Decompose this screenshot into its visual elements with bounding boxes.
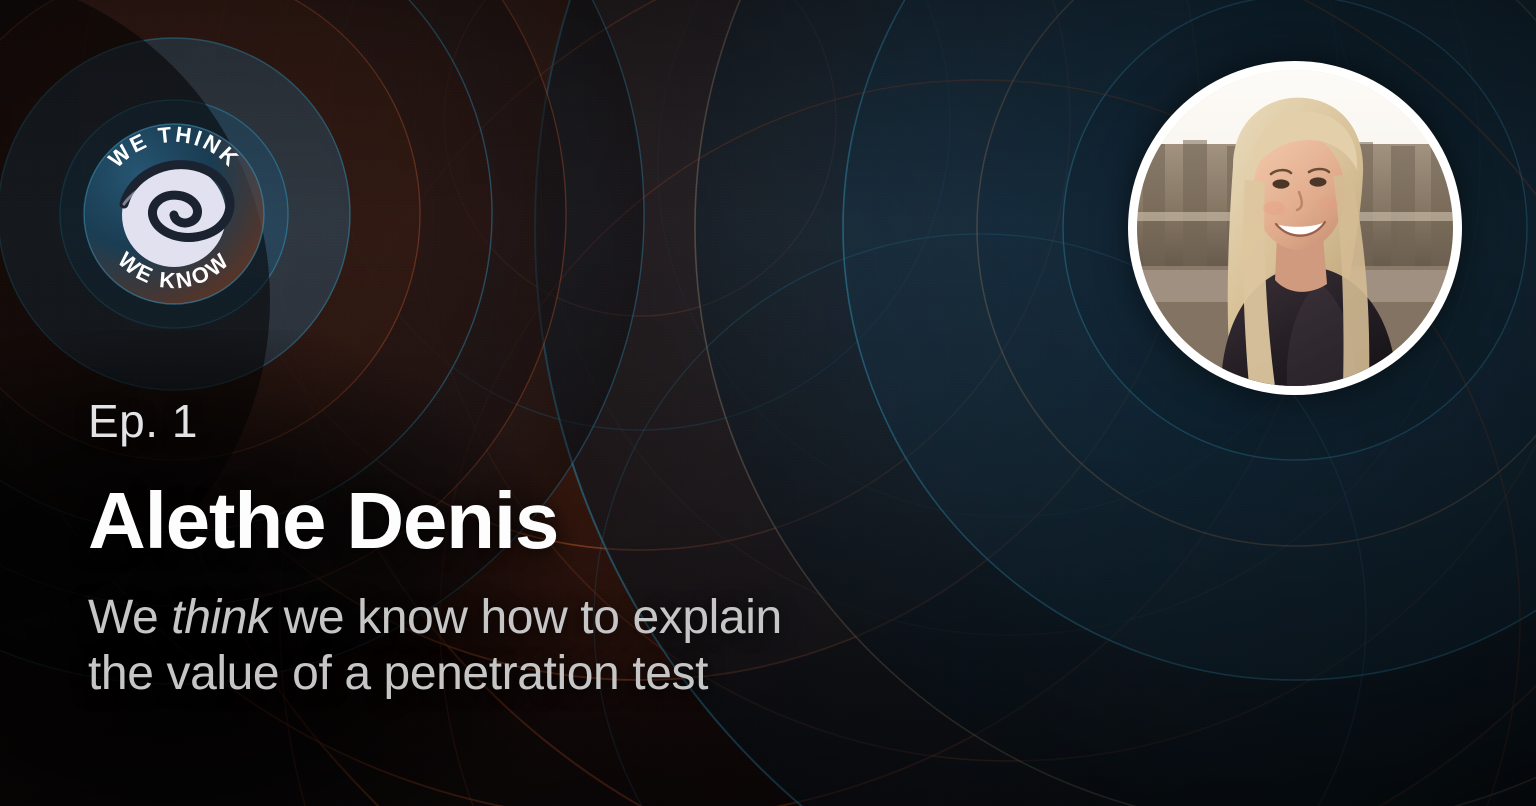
episode-text-block: Ep. 1 Alethe Denis We think we know how … <box>88 398 1048 702</box>
title-text-plain-b: we know how to explain <box>271 591 782 644</box>
episode-number-label: Ep. 1 <box>88 398 1048 444</box>
episode-title-line-1: We think we know how to explain <box>88 591 782 644</box>
episode-title: We think we know how to explain the valu… <box>88 590 1028 701</box>
show-logo-badge[interactable]: WE THINK WE KNOW <box>78 118 270 310</box>
guest-portrait-avatar[interactable] <box>1128 61 1462 395</box>
title-text-emphasis: think <box>171 591 270 644</box>
title-text-plain-a: We <box>88 591 171 644</box>
episode-title-line-2: the value of a penetration test <box>88 647 708 700</box>
podcast-episode-poster: WE THINK WE KNOW Ep. 1 Alethe Denis We t… <box>0 0 1536 806</box>
guest-photo <box>1137 70 1453 386</box>
guest-name-heading: Alethe Denis <box>88 482 1048 560</box>
